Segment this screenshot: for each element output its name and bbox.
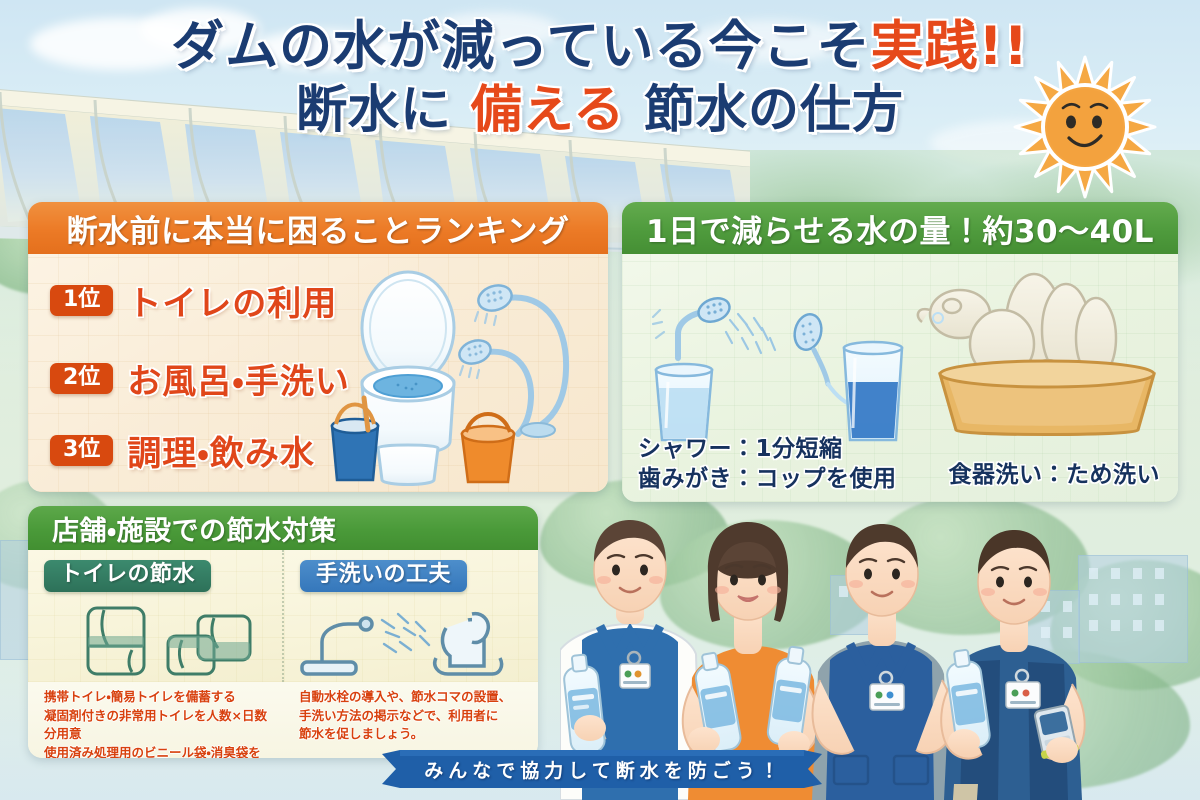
title-line-1-text: ダムの水が減っている今こそ	[171, 16, 870, 77]
facility-columns: トイレの節水	[28, 550, 538, 682]
shower-caption-line-1: シャワー：1分短縮	[638, 435, 897, 464]
facility-note-line: 使用済み処理用のビニール袋・消臭袋を用意	[44, 744, 273, 759]
shower-caption: シャワー：1分短縮 歯みがき：コップを使用	[638, 435, 897, 494]
facility-panel-heading: 店舗・施設での節水対策	[28, 506, 538, 550]
title-line-2-text-a: 断水に	[296, 81, 471, 140]
call-to-action-ribbon: みんなで協力して断水を防ごう！	[382, 750, 822, 788]
water-saving-panel-body: シャワー：1分短縮 歯みがき：コップを使用 食器洗い：ため洗い	[622, 254, 1178, 502]
dish-basin-illustration	[918, 274, 1154, 435]
water-saving-panel: 1日で減らせる水の量！約30〜40L	[622, 202, 1178, 502]
facility-measures-panel: 店舗・施設での節水対策 トイレの節水	[28, 506, 538, 758]
rank-label: 調理・飲み水	[127, 426, 315, 475]
shower-head-icon	[653, 294, 775, 440]
portable-toilet-bag-icon	[28, 602, 282, 680]
facility-note-toilet: 携帯トイレ・簡易トイレを備蓄する 凝固剤付きの非常用トイレを人数×日数分用意 使…	[28, 688, 283, 758]
ranking-item: 2位 お風呂・手洗い	[50, 354, 350, 403]
facility-tag-toilet: トイレの節水	[44, 560, 211, 592]
shower-caption-line-2: 歯みがき：コップを使用	[638, 465, 897, 494]
water-cup-icon	[791, 311, 902, 440]
facility-note-line: 凝固剤付きの非常用トイレを人数×日数分用意	[44, 707, 273, 744]
rank-badge: 1位	[50, 285, 113, 316]
water-saving-illustration	[630, 262, 1174, 452]
rank-badge: 2位	[50, 363, 113, 394]
title-line-2-accent: 備える	[471, 81, 625, 140]
facility-notes: 携帯トイレ・簡易トイレを備蓄する 凝固剤付きの非常用トイレを人数×日数分用意 使…	[28, 682, 538, 758]
dishwashing-caption: 食器洗い：ため洗い	[949, 461, 1161, 490]
title-line-2: 断水に 備える 節水の仕方	[0, 81, 1200, 141]
poster-canvas: ダムの水が減っている今こそ実践!! 断水に 備える 節水の仕方 断水前に本当に困…	[0, 0, 1200, 800]
water-saving-panel-heading: 1日で減らせる水の量！約30〜40L	[622, 202, 1178, 254]
toilet-with-buckets-illustration	[328, 258, 604, 490]
ranking-panel-heading: 断水前に本当に困ることランキング	[28, 202, 608, 254]
ranking-panel-body: 1位 トイレの利用 2位 お風呂・手洗い 3位 調理・飲み水	[28, 254, 608, 492]
facility-note-line: 自動水栓の導入や、節水コマの設置、	[299, 688, 528, 707]
title-line-1: ダムの水が減っている今こそ実践!!	[0, 16, 1200, 79]
title-line-2-text-b: 節水の仕方	[625, 81, 904, 140]
facility-note-line: 手洗い方法の掲示などで、利用者に	[299, 707, 528, 726]
poster-title: ダムの水が減っている今こそ実践!! 断水に 備える 節水の仕方	[0, 16, 1200, 141]
facility-panel-body: トイレの節水	[28, 550, 538, 758]
facility-column-toilet: トイレの節水	[28, 550, 282, 682]
facility-note-line: 節水を促しましょう。	[299, 725, 528, 744]
facility-note-line: 携帯トイレ・簡易トイレを備蓄する	[44, 688, 273, 707]
ribbon-text: みんなで協力して断水を防ごう！	[382, 750, 822, 788]
facility-column-handwash: 手洗いの工夫	[282, 550, 538, 682]
facility-note-handwash: 自動水栓の導入や、節水コマの設置、 手洗い方法の掲示などで、利用者に 節水を促し…	[283, 688, 538, 758]
ranking-panel: 断水前に本当に困ることランキング 1位 トイレの利用 2位 お風呂・手洗い 3位…	[28, 202, 608, 492]
ranking-item: 3位 調理・飲み水	[50, 426, 315, 475]
ranking-item: 1位 トイレの利用	[50, 276, 337, 325]
hand-wash-faucet-icon	[284, 602, 538, 680]
rank-label: トイレの利用	[127, 276, 337, 325]
rank-label: お風呂・手洗い	[127, 354, 350, 403]
rank-badge: 3位	[50, 435, 113, 466]
facility-tag-handwash: 手洗いの工夫	[300, 560, 467, 592]
title-line-1-accent: 実践!!	[871, 16, 1029, 77]
